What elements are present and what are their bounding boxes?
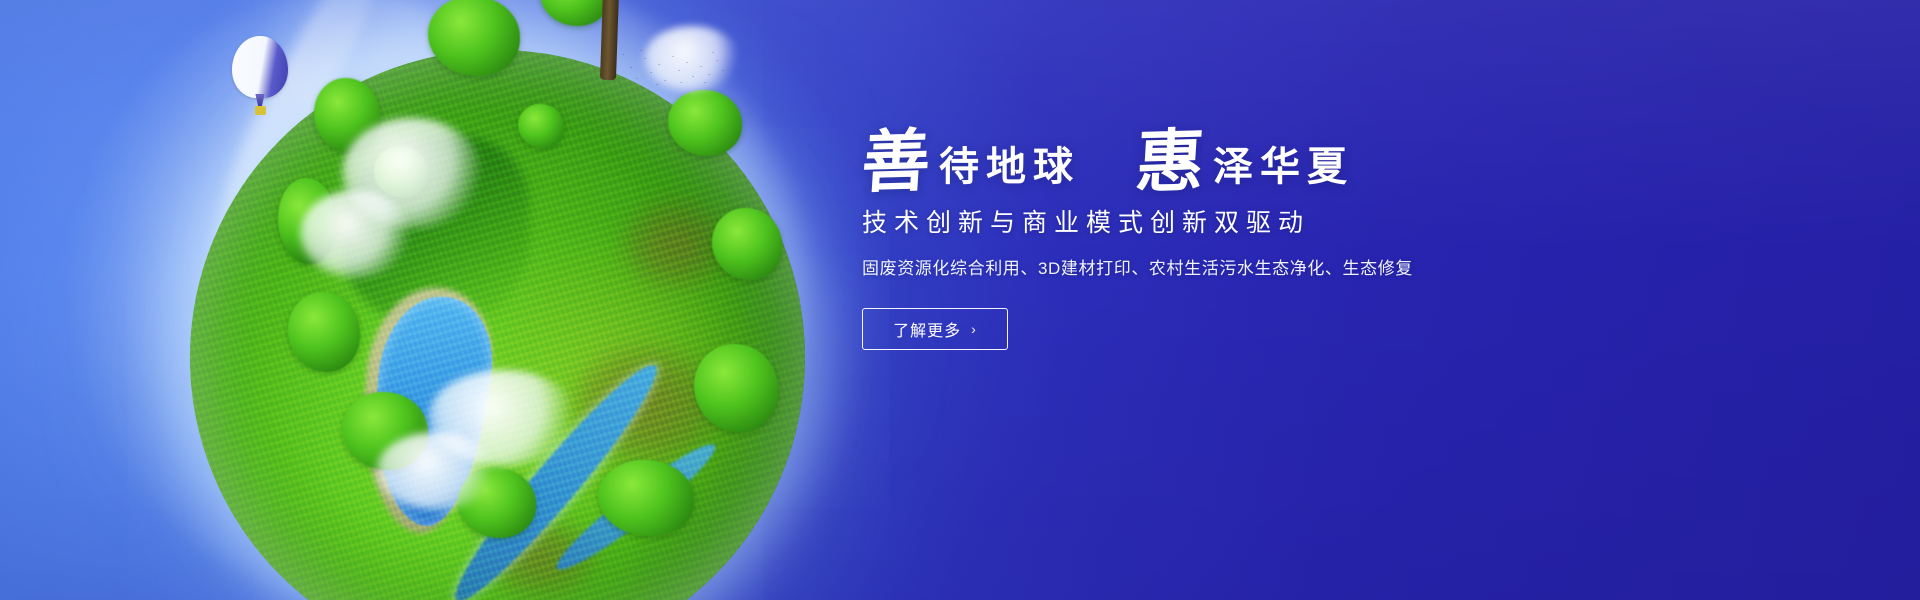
bird-icon: ˇ [686, 62, 688, 69]
bird-icon: ˇ [614, 74, 616, 81]
hot-air-balloon-icon [232, 36, 290, 122]
bird-icon: ˇ [658, 64, 660, 71]
headline-part2-small: 泽华夏 [1213, 144, 1354, 190]
tree-icon [288, 292, 360, 372]
cloud-puff [300, 190, 410, 278]
bird-icon: ˇ [650, 72, 652, 79]
bird-icon: ˇ [672, 56, 674, 63]
tree-icon [668, 90, 742, 156]
bird-icon: ˇ [716, 60, 718, 67]
headline-part1-big: 善 [860, 127, 933, 197]
bird-icon: ˇ [636, 78, 638, 85]
bird-icon: ˇ [722, 70, 724, 77]
tree-icon [598, 460, 694, 536]
balloon-basket [255, 106, 266, 115]
tree-icon [712, 208, 782, 280]
headline-part1-small: 待地球 [939, 144, 1080, 190]
banner-content: 善 待地球 惠 泽华夏 技术创新与商业模式创新双驱动 固废资源化综合利用、3D建… [862, 128, 1622, 350]
page-title: 善 待地球 惠 泽华夏 [862, 128, 1622, 196]
banner-description: 固废资源化综合利用、3D建材打印、农村生活污水生态净化、生态修复 [862, 256, 1622, 282]
bird-icon: ˇ [678, 70, 680, 77]
bird-icon: ˇ [664, 80, 666, 87]
hero-banner: ˇˇˇˇˇˇˇˇˇˇˇˇˇˇˇˇˇˇˇˇˇˇˇˇˇ 善 待地球 惠 泽华夏 技术… [0, 0, 1920, 600]
bird-icon: ˇ [704, 82, 706, 89]
bird-icon: ˇ [622, 54, 624, 61]
bird-icon: ˇ [640, 50, 642, 57]
bird-icon: ˇ [618, 82, 620, 89]
headline-part2-big: 惠 [1134, 127, 1207, 197]
banner-subtitle: 技术创新与商业模式创新双驱动 [862, 206, 1622, 240]
bird-icon: ˇ [656, 84, 658, 91]
bird-icon: ˇ [602, 78, 604, 85]
learn-more-label: 了解更多 [893, 317, 961, 341]
tree-icon [694, 344, 778, 432]
bird-icon: ˇ [692, 76, 694, 83]
tree-icon [518, 104, 564, 148]
bird-icon: ˇ [630, 67, 632, 74]
bird-icon: ˇ [644, 58, 646, 65]
bird-flock-icon: ˇˇˇˇˇˇˇˇˇˇˇˇˇˇˇˇˇˇˇˇˇˇˇˇˇ [592, 48, 724, 94]
chevron-right-icon: › [971, 321, 977, 337]
bird-icon: ˇ [712, 52, 714, 59]
bird-icon: ˇ [708, 74, 710, 81]
learn-more-button[interactable]: 了解更多 › [862, 308, 1008, 350]
bird-icon: ˇ [680, 82, 682, 89]
cloud-puff [376, 432, 496, 510]
balloon-envelope [232, 36, 288, 98]
bird-icon: ˇ [700, 66, 702, 73]
bird-icon: ˇ [606, 60, 608, 67]
bird-icon: ˇ [594, 68, 596, 75]
